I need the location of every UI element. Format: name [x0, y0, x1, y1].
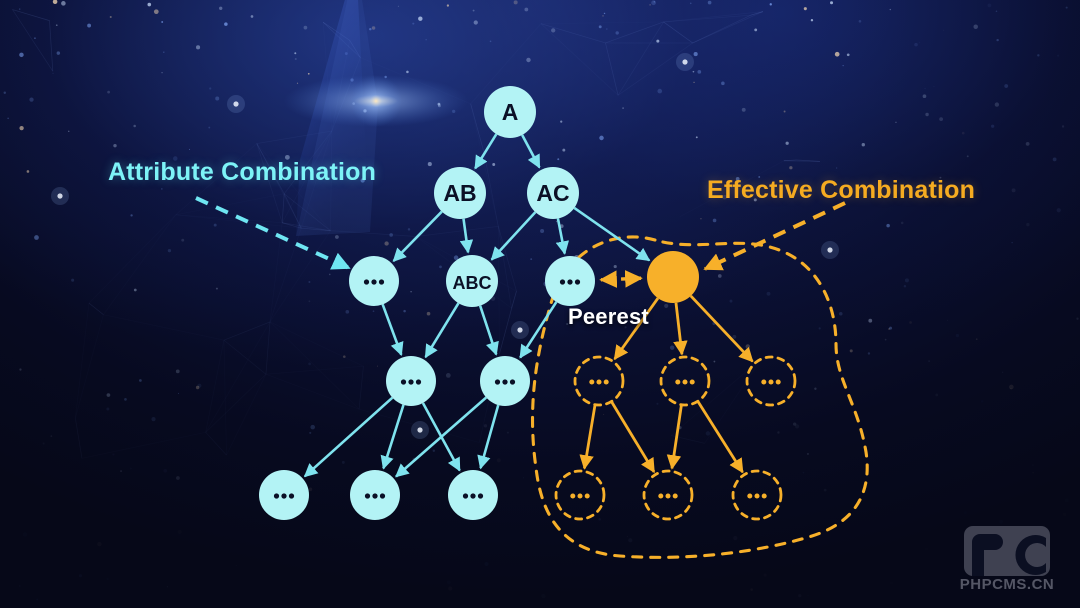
cyan-node-m2[interactable]: [480, 356, 530, 406]
cyan-node-b1[interactable]: [259, 470, 309, 520]
ellipsis-dot: [510, 379, 515, 384]
ellipsis-dot: [567, 279, 572, 284]
ellipsis-dot: [682, 379, 687, 384]
orange-node-o4[interactable]: [556, 471, 604, 519]
attribute-combination-leader-arrow: [196, 198, 349, 268]
cyan-edge: [475, 134, 496, 168]
ellipsis-dot: [371, 279, 376, 284]
ellipsis-dot: [596, 379, 601, 384]
orange-edge: [676, 303, 682, 354]
ellipsis-dot: [560, 279, 565, 284]
orange-node-o5[interactable]: [644, 471, 692, 519]
cyan-node-ab[interactable]: AB: [434, 167, 486, 219]
orange-root-node[interactable]: [647, 251, 699, 303]
ellipsis-dot: [675, 379, 680, 384]
cyan-node-m1[interactable]: [386, 356, 436, 406]
ellipsis-dot: [589, 379, 594, 384]
cyan-node-b3[interactable]: [448, 470, 498, 520]
watermark-text: PHPCMS.CN: [948, 576, 1066, 593]
ellipsis-dot: [408, 379, 413, 384]
cyan-node-r1[interactable]: [545, 256, 595, 306]
cyan-edge: [558, 219, 565, 254]
attribute-combination-label: Attribute Combination: [108, 158, 376, 187]
effective-combination-label: Effective Combination: [707, 176, 975, 205]
cyan-edge: [383, 405, 403, 468]
graph-layer: AABACABC: [0, 0, 1080, 608]
cyan-edge: [396, 397, 486, 476]
ellipsis-dot: [401, 379, 406, 384]
ellipsis-dot: [281, 493, 286, 498]
cyan-edge: [481, 405, 499, 468]
cyan-edge: [464, 219, 469, 253]
orange-edge: [672, 405, 681, 469]
ellipsis-dot: [585, 493, 590, 498]
ellipsis-dot: [416, 379, 421, 384]
cyan-node-abc[interactable]: ABC: [446, 255, 498, 307]
orange-edge: [584, 405, 595, 469]
cyan-node-a[interactable]: A: [484, 86, 536, 138]
orange-edge: [611, 402, 654, 472]
effective-combination-leader-arrow: [705, 203, 845, 269]
peerest-bidirectional-arrow: [601, 278, 641, 280]
cyan-edge: [383, 304, 402, 354]
cyan-edge: [426, 303, 459, 357]
cyan-node-b2[interactable]: [350, 470, 400, 520]
ellipsis-dot: [658, 493, 663, 498]
ellipsis-dot: [380, 493, 385, 498]
cyan-edge: [394, 212, 442, 261]
ellipsis-dot: [502, 379, 507, 384]
ellipsis-dot: [495, 379, 500, 384]
peerest-label: Peerest: [568, 304, 649, 330]
ellipsis-dot: [776, 379, 781, 384]
ellipsis-dot: [470, 493, 475, 498]
cyan-edge: [522, 135, 539, 167]
orange-root-node: [647, 251, 699, 303]
ellipsis-dot: [365, 493, 370, 498]
cyan-edge: [492, 212, 536, 260]
node-label: ABC: [453, 273, 492, 293]
ellipsis-dot: [577, 493, 582, 498]
ellipsis-dot: [665, 493, 670, 498]
ellipsis-dot: [690, 379, 695, 384]
watermark: PHPCMS.CN: [948, 522, 1066, 596]
ellipsis-dot: [575, 279, 580, 284]
diagram-canvas: AABACABC Attribute Combination Effective…: [0, 0, 1080, 608]
orange-node-o6[interactable]: [733, 471, 781, 519]
ellipsis-dot: [768, 379, 773, 384]
ellipsis-dot: [372, 493, 377, 498]
ellipsis-dot: [762, 493, 767, 498]
ellipsis-dot: [604, 379, 609, 384]
cyan-nodes: AABACABC: [259, 86, 595, 520]
ellipsis-dot: [379, 279, 384, 284]
orange-node-o2[interactable]: [661, 357, 709, 405]
ellipsis-dot: [570, 493, 575, 498]
node-label: A: [502, 99, 519, 125]
ellipsis-dot: [747, 493, 752, 498]
ellipsis-dot: [478, 493, 483, 498]
cyan-node-ac[interactable]: AC: [527, 167, 579, 219]
ellipsis-dot: [274, 493, 279, 498]
node-label: AC: [536, 180, 569, 206]
peerest-link: [601, 278, 641, 280]
node-label: AB: [443, 180, 476, 206]
ellipsis-dot: [761, 379, 766, 384]
orange-edge: [691, 296, 753, 361]
ellipsis-dot: [463, 493, 468, 498]
ellipsis-dot: [754, 493, 759, 498]
orange-node-o1[interactable]: [575, 357, 623, 405]
cyan-edge: [480, 306, 496, 355]
cyan-edge: [305, 398, 393, 477]
orange-node-o3[interactable]: [747, 357, 795, 405]
orange-edge: [698, 401, 743, 472]
ellipsis-dot: [289, 493, 294, 498]
ellipsis-dot: [364, 279, 369, 284]
ellipsis-dot: [673, 493, 678, 498]
cyan-node-l1[interactable]: [349, 256, 399, 306]
